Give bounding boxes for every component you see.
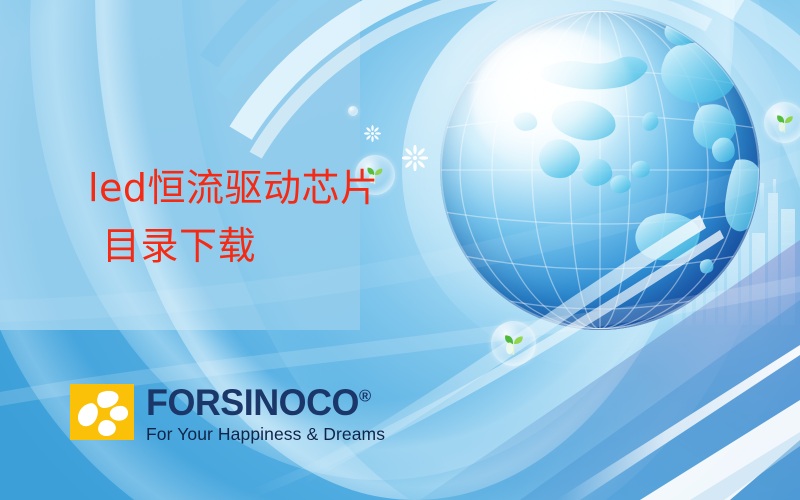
bubble-sprout-mid	[491, 321, 536, 366]
logo-text-block: FORSINOCO® For Your Happiness & Dreams	[146, 384, 385, 445]
logo-wordmark-text: FORSINOCO	[146, 382, 359, 423]
brand-logo: FORSINOCO® For Your Happiness & Dreams	[70, 384, 385, 445]
green-sprout-icon	[501, 331, 527, 357]
logo-wordmark: FORSINOCO®	[146, 384, 378, 421]
headline-text: led恒流驱动芯片 目录下载	[88, 160, 379, 276]
bubble-speck	[348, 106, 358, 116]
logo-tagline: For Your Happiness & Dreams	[146, 424, 385, 445]
headline-line-1: led恒流驱动芯片	[88, 166, 379, 210]
four-petal-pinwheel-icon	[70, 384, 134, 440]
registered-trademark-icon: ®	[359, 387, 371, 406]
green-sprout-icon	[773, 111, 796, 134]
headline-line-2: 目录下载	[102, 218, 379, 276]
flower-sprite-small-icon	[364, 125, 381, 142]
pinwheel-petals	[70, 384, 134, 440]
flower-sprite-large-icon	[402, 145, 428, 171]
bubble-sprout-right	[764, 102, 800, 143]
marketing-banner: led恒流驱动芯片 目录下载 FORSINOCO® For Your Happi…	[0, 0, 800, 500]
